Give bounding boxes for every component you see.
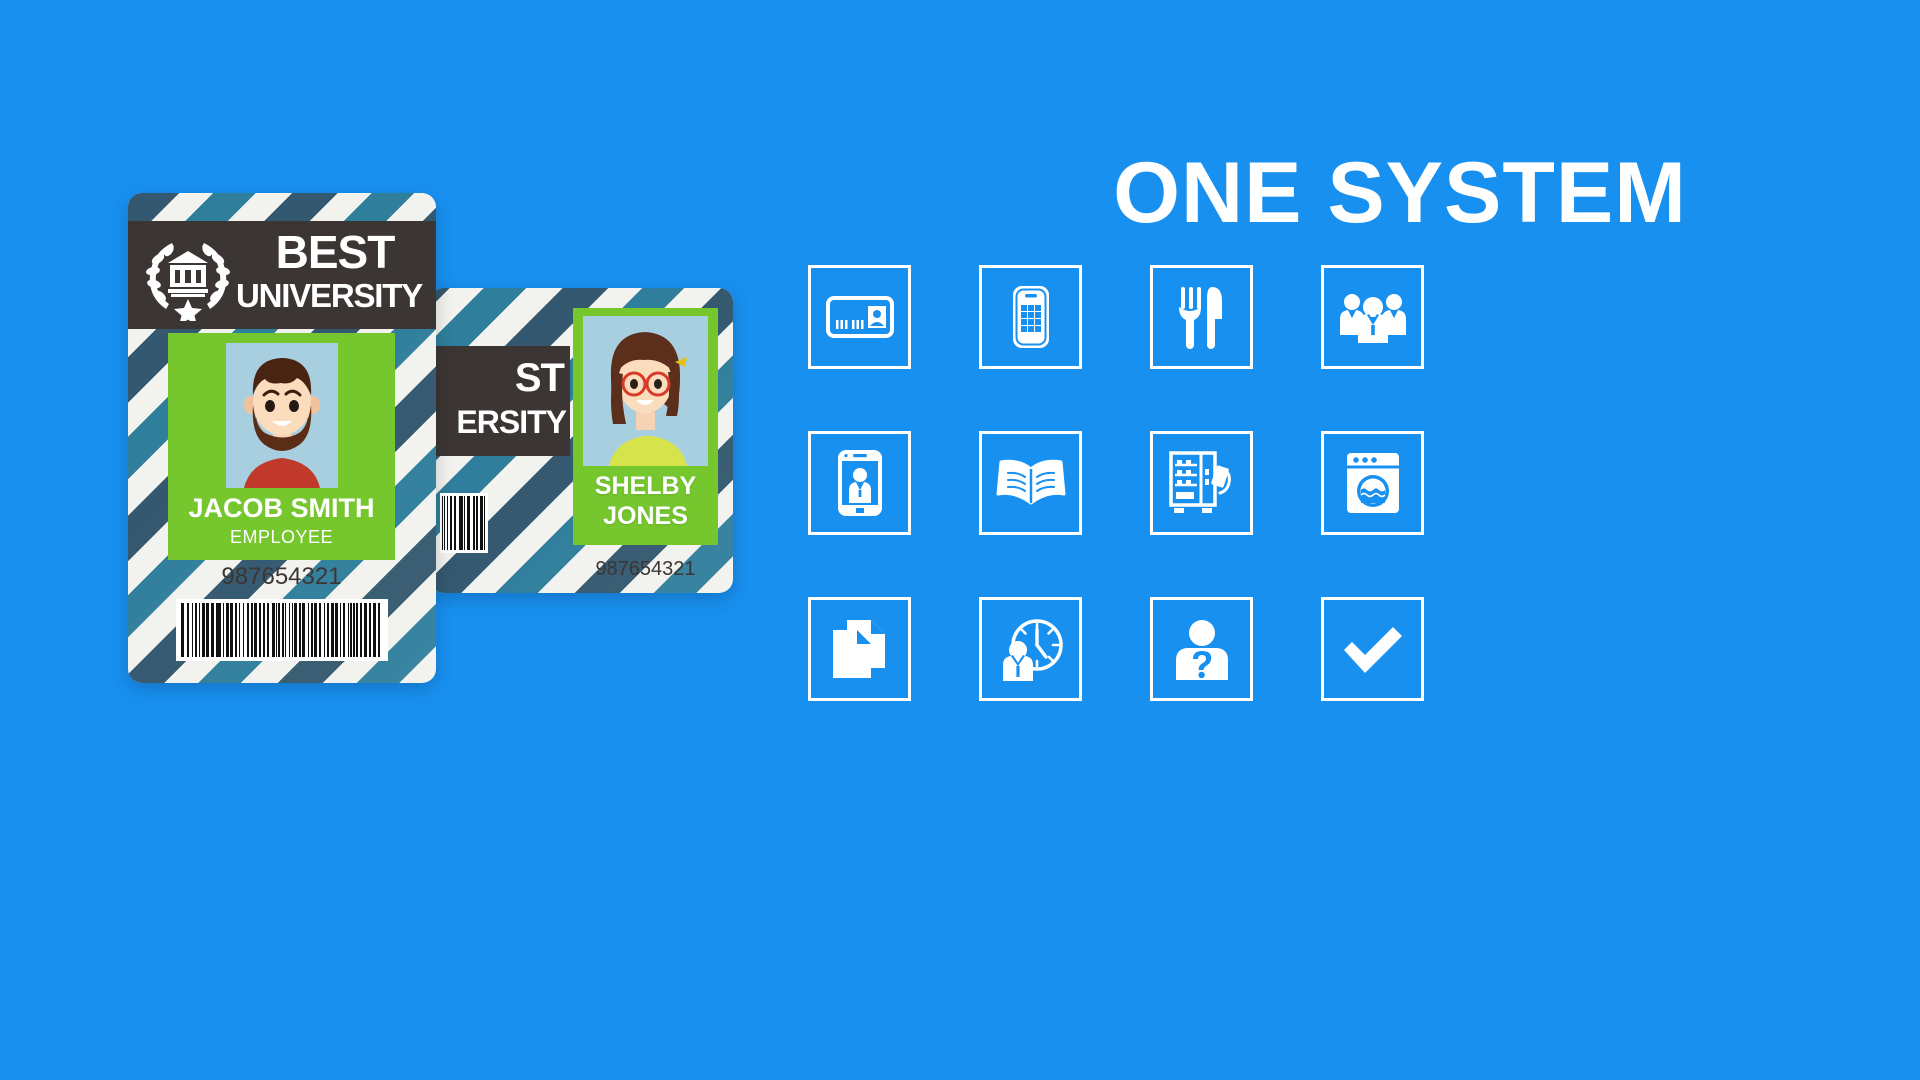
holder-name-front: JACOB SMITH — [168, 493, 395, 523]
tile-id-card[interactable] — [808, 265, 911, 369]
barcode-back — [440, 493, 488, 553]
tile-dining[interactable] — [1150, 265, 1253, 369]
page-title: ONE SYSTEM — [1020, 150, 1780, 236]
time-attendance-icon — [997, 617, 1065, 681]
avatar-jacob-smith — [226, 343, 338, 488]
tile-print-copy[interactable] — [808, 597, 911, 701]
id-number-back: 987654321 — [573, 558, 718, 581]
id-card-shelby-jones[interactable]: ST ERSITY — [430, 288, 733, 593]
university-crest-icon — [142, 229, 234, 321]
tile-verified[interactable] — [1321, 597, 1424, 701]
dining-utensils-icon — [1176, 285, 1228, 349]
tile-laundry[interactable] — [1321, 431, 1424, 535]
tile-staff-group[interactable] — [1321, 265, 1424, 369]
poster-stage: ST ERSITY — [0, 0, 1920, 1080]
mobile-phone-icon — [1009, 284, 1053, 350]
id-card-icon — [826, 294, 894, 340]
barcode-front — [176, 599, 388, 661]
mobile-credential-icon — [836, 448, 884, 518]
id-number-front: 987654321 — [168, 563, 395, 591]
visitor-question-icon — [1172, 618, 1232, 680]
university-line2-front: UNIVERSITY — [228, 275, 430, 317]
tile-visitor-management[interactable] — [1150, 597, 1253, 701]
holder-role-front: EMPLOYEE — [168, 527, 395, 548]
university-line2-back: ERSITY — [430, 404, 570, 441]
feature-icon-grid — [808, 265, 1428, 705]
university-line1-front: BEST — [240, 227, 430, 277]
tile-library[interactable] — [979, 431, 1082, 535]
card-header-bar-back: ST ERSITY — [430, 346, 570, 456]
photo-block-back: SHELBY JONES — [573, 308, 718, 545]
checkmark-icon — [1341, 623, 1405, 675]
vending-machine-icon — [1167, 451, 1237, 515]
photo-block-front: JACOB SMITH EMPLOYEE — [168, 333, 395, 560]
holder-name-back: SHELBY JONES — [573, 471, 718, 531]
tile-mobile-credential[interactable] — [808, 431, 911, 535]
copy-documents-icon — [829, 618, 891, 680]
tile-mobile-phone[interactable] — [979, 265, 1082, 369]
avatar-shelby-jones — [583, 316, 708, 466]
card-header-bar-front: BEST UNIVERSITY — [128, 221, 436, 329]
id-card-group: ST ERSITY — [0, 0, 920, 880]
tile-vending[interactable] — [1150, 431, 1253, 535]
open-book-icon — [996, 455, 1066, 511]
group-of-people-icon — [1338, 291, 1408, 343]
tile-time-attendance[interactable] — [979, 597, 1082, 701]
washing-machine-icon — [1344, 451, 1402, 515]
id-card-jacob-smith[interactable]: BEST UNIVERSITY — [128, 193, 436, 683]
university-line1-back: ST — [430, 356, 570, 401]
